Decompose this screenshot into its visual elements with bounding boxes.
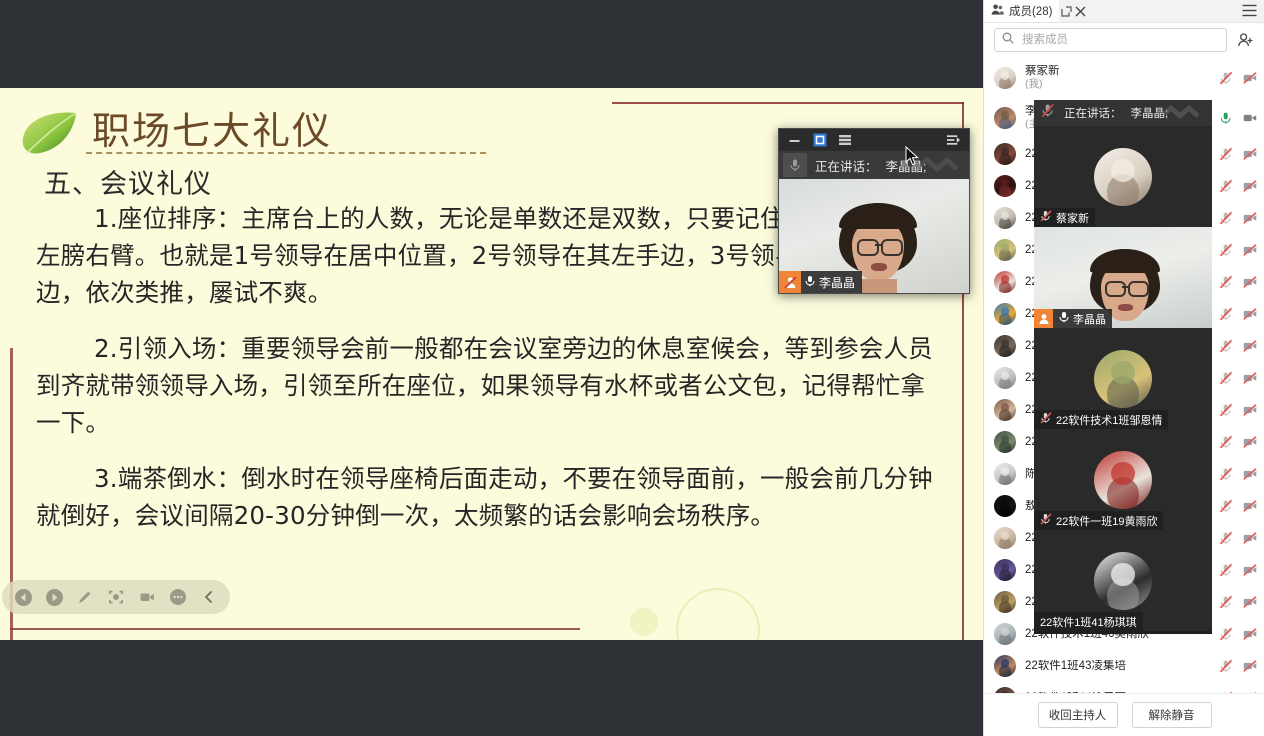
video-tile[interactable]: 蔡家新 [1034, 126, 1212, 227]
mic-muted-icon [1040, 412, 1052, 427]
slide-top-rule [612, 102, 964, 104]
mic-muted-icon [1041, 103, 1055, 123]
avatar [994, 335, 1016, 357]
list-layout-icon[interactable] [837, 133, 852, 148]
avatar [994, 495, 1016, 517]
mic-muted-icon[interactable] [1219, 627, 1233, 641]
tile-avatar [1094, 350, 1152, 408]
mic-muted-icon[interactable] [1219, 179, 1233, 193]
avatar [994, 591, 1016, 613]
tile-name: 22软件一班19黄雨欣 [1056, 513, 1157, 529]
member-role: (我) [1025, 78, 1210, 91]
slide-toolbar[interactable] [2, 580, 230, 614]
video-strip-header: 正在讲话： 李晶晶; [1034, 100, 1212, 126]
camera-off-icon[interactable] [1243, 243, 1257, 257]
video-tile[interactable]: 22软件1班41杨琪琪 [1034, 530, 1212, 631]
tab-members-label: 成员(28) [1009, 3, 1052, 19]
member-status-icons [1219, 179, 1257, 193]
slide-paragraph-3: 3.端茶倒水：倒水时在领导座椅后面走动，不要在领导面前，一般会前几分钟就倒好，会… [36, 460, 936, 534]
restore-window-icon[interactable] [812, 133, 827, 148]
slide-title: 职场七大礼仪 [92, 100, 332, 155]
floating-video-window[interactable]: 正在讲话： 李晶晶; [778, 128, 970, 294]
reclaim-host-button[interactable]: 收回主持人 [1038, 702, 1118, 728]
avatar [994, 271, 1016, 293]
host-badge-icon [1034, 309, 1053, 328]
camera-off-icon[interactable] [1243, 467, 1257, 481]
tile-name: 22软件1班41杨琪琪 [1040, 614, 1137, 630]
mic-muted-icon[interactable] [1219, 499, 1233, 513]
member-status-icons [1219, 275, 1257, 289]
avatar [994, 239, 1016, 261]
decor-circle-mid [630, 608, 658, 636]
avatar [994, 303, 1016, 325]
member-status-icons [1219, 467, 1257, 481]
floating-video-name: 李晶晶 [819, 274, 855, 291]
member-name: 22软件1班43凌集培 [1025, 660, 1210, 673]
mic-muted-icon[interactable] [1219, 467, 1233, 481]
mic-muted-icon [783, 153, 807, 177]
record-icon[interactable] [131, 581, 162, 613]
mic-muted-icon[interactable] [1219, 371, 1233, 385]
tab-members[interactable]: 成员(28) [984, 0, 1059, 22]
camera-off-icon[interactable] [1243, 275, 1257, 289]
decor-circle-outline [676, 588, 760, 640]
member-status-icons [1219, 403, 1257, 417]
avatar [994, 367, 1016, 389]
mic-muted-icon[interactable] [1219, 71, 1233, 85]
member-name: 蔡家新 [1025, 65, 1210, 78]
popout-icon[interactable] [1059, 4, 1073, 18]
tile-nameplate: 22软件1班41杨琪琪 [1034, 612, 1143, 631]
mic-muted-icon[interactable] [1219, 147, 1233, 161]
search-icon [1002, 31, 1014, 49]
members-icon [991, 3, 1004, 19]
avatar [994, 107, 1016, 129]
mic-muted-icon[interactable] [1219, 659, 1233, 673]
camera-off-icon[interactable] [1243, 371, 1257, 385]
tile-nameplate: 22软件一班19黄雨欣 [1034, 511, 1163, 530]
member-row[interactable]: 22软件1班43凌集培 [984, 650, 1264, 682]
member-status-icons [1219, 211, 1257, 225]
close-icon[interactable] [1073, 4, 1087, 18]
camera-off-icon[interactable] [1243, 403, 1257, 417]
avatar [994, 559, 1016, 581]
audio-wave-icon [917, 157, 963, 178]
video-strip[interactable]: 正在讲话： 李晶晶; 蔡家新李晶晶22软件技术1班邹恩情22软件一班19黄雨欣2… [1034, 100, 1212, 634]
avatar [994, 399, 1016, 421]
mic-muted-icon[interactable] [1219, 243, 1233, 257]
member-status-icons [1219, 659, 1257, 673]
mic-muted-icon[interactable] [1219, 211, 1233, 225]
mic-muted-icon[interactable] [1219, 435, 1233, 449]
avatar [994, 655, 1016, 677]
tile-nameplate: 蔡家新 [1034, 208, 1095, 227]
camera-off-icon[interactable] [1243, 307, 1257, 321]
floating-video-feed[interactable]: 李晶晶 [779, 179, 969, 293]
camera-off-icon[interactable] [1243, 595, 1257, 609]
slide-paragraph-2: 2.引领入场：重要领导会前一般都在会议室旁边的休息室候会，等到参会人员到齐就带领… [36, 330, 936, 441]
tile-avatar [1094, 552, 1152, 610]
member-status-icons [1219, 499, 1257, 513]
speaking-label: 正在讲话： [815, 156, 878, 175]
floating-speaking-bar: 正在讲话： 李晶晶; [779, 151, 969, 179]
member-status-icons [1219, 595, 1257, 609]
camera-off-icon[interactable] [1243, 499, 1257, 513]
leaf-icon [20, 110, 80, 156]
avatar [994, 527, 1016, 549]
hamburger-menu-icon[interactable] [1242, 4, 1257, 22]
tile-name: 22软件技术1班邹恩情 [1056, 412, 1162, 428]
add-user-icon[interactable] [1235, 30, 1255, 50]
avatar [994, 431, 1016, 453]
video-tile[interactable]: 22软件一班19黄雨欣 [1034, 429, 1212, 530]
slide-bottom-rule [10, 628, 580, 630]
tile-name: 蔡家新 [1056, 210, 1089, 226]
tile-nameplate: 22软件技术1班邹恩情 [1034, 410, 1168, 429]
mic-muted-icon[interactable] [1219, 563, 1233, 577]
resize-grip[interactable] [954, 278, 968, 292]
video-tile[interactable]: 22软件技术1班邹恩情 [1034, 328, 1212, 429]
camera-off-icon[interactable] [1243, 531, 1257, 545]
muted-speaker-badge [779, 271, 801, 293]
collapse-left-icon[interactable] [193, 581, 224, 613]
more-icon[interactable] [162, 581, 193, 613]
avatar [994, 175, 1016, 197]
camera-off-icon[interactable] [1243, 179, 1257, 193]
camera-off-icon[interactable] [1243, 627, 1257, 641]
slide-section-heading: 五、会议礼仪 [44, 162, 212, 201]
panel-footer: 收回主持人 解除静音 [984, 693, 1264, 736]
mic-muted-icon[interactable] [1219, 595, 1233, 609]
mic-muted-icon[interactable] [1219, 307, 1233, 321]
camera-off-icon[interactable] [1243, 339, 1257, 353]
member-status-icons [1219, 243, 1257, 257]
pen-icon[interactable] [70, 581, 101, 613]
minimize-icon[interactable] [787, 133, 802, 148]
avatar [994, 67, 1016, 89]
mic-muted-icon[interactable] [1219, 531, 1233, 545]
camera-off-icon[interactable] [1243, 435, 1257, 449]
video-strip-speaking-label: 正在讲话： [1064, 105, 1122, 121]
mic-muted-icon[interactable] [1219, 275, 1233, 289]
camera-off-icon[interactable] [1243, 147, 1257, 161]
search-input[interactable] [1020, 33, 1219, 47]
mic-muted-icon[interactable] [1219, 339, 1233, 353]
camera-on-icon[interactable] [1243, 111, 1257, 125]
mic-muted-icon[interactable] [1219, 403, 1233, 417]
title-underline [86, 152, 486, 154]
camera-off-icon[interactable] [1243, 659, 1257, 673]
mic-on-icon [1059, 311, 1069, 326]
shared-screen-area: 职场七大礼仪 五、会议礼仪 1.座位排序：主席台上的人数，无论是单数还是双数，只… [0, 0, 983, 736]
mic-muted-icon [1040, 210, 1052, 225]
member-status-icons [1219, 71, 1257, 85]
camera-off-icon[interactable] [1243, 211, 1257, 225]
member-status-icons [1219, 563, 1257, 577]
collapse-panel-icon[interactable] [946, 133, 961, 148]
member-status-icons [1219, 147, 1257, 161]
prev-slide-icon[interactable] [8, 581, 39, 613]
tile-avatar [1094, 451, 1152, 509]
mouse-cursor [905, 146, 919, 166]
avatar [994, 623, 1016, 645]
member-status-icons [1219, 531, 1257, 545]
member-search-row [984, 23, 1264, 57]
camera-off-icon[interactable] [1243, 563, 1257, 577]
video-tile[interactable]: 李晶晶 [1034, 227, 1212, 328]
member-status-icons [1219, 339, 1257, 353]
member-row[interactable]: 蔡家新(我) [984, 58, 1264, 98]
member-status-icons [1219, 435, 1257, 449]
panel-tabbar: 成员(28) [984, 0, 1264, 23]
next-slide-icon[interactable] [39, 581, 70, 613]
camera-off-icon[interactable] [1243, 71, 1257, 85]
search-box[interactable] [994, 28, 1227, 52]
audio-wave-icon [1162, 105, 1206, 125]
tile-name: 李晶晶 [1073, 311, 1106, 327]
member-status-icons [1219, 307, 1257, 321]
member-status-icons [1219, 627, 1257, 641]
spotlight-icon[interactable] [101, 581, 132, 613]
avatar [994, 207, 1016, 229]
member-status-icons [1219, 371, 1257, 385]
avatar [994, 143, 1016, 165]
tile-nameplate: 李晶晶 [1034, 309, 1112, 328]
avatar [994, 463, 1016, 485]
unmute-button[interactable]: 解除静音 [1132, 702, 1212, 728]
mic-on-icon [805, 275, 815, 290]
mic-muted-icon [1040, 513, 1052, 528]
mic-on-icon[interactable] [1219, 111, 1233, 125]
tile-avatar [1094, 148, 1152, 206]
floating-window-titlebar[interactable] [779, 129, 969, 151]
member-status-icons [1219, 111, 1257, 125]
